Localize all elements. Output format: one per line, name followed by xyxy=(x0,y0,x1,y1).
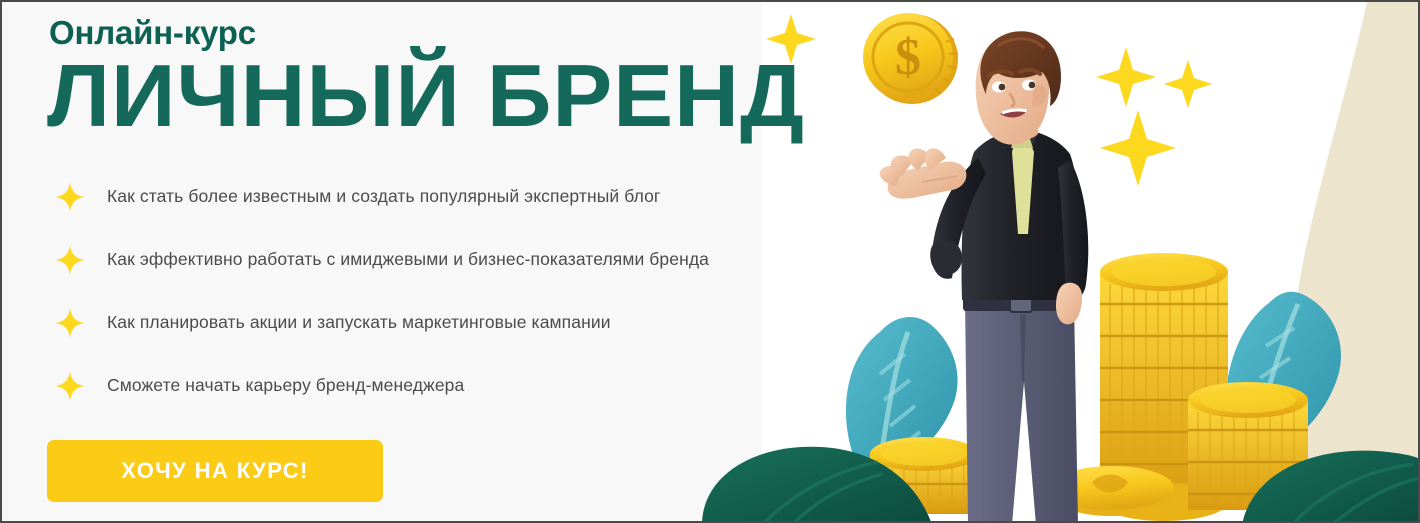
enroll-cta-button[interactable]: ХОЧУ НА КУРС! xyxy=(47,440,383,502)
svg-text:$: $ xyxy=(895,29,921,86)
promo-banner: $ Онлайн-курс ЛИЧНЫЙ БРЕНД Как стать бол… xyxy=(0,0,1420,523)
coin-stack-medium-right xyxy=(1188,382,1308,510)
list-item-label: Сможете начать карьеру бренд-менеджера xyxy=(107,375,464,396)
sparkle-top-right-2 xyxy=(1100,110,1176,186)
open-palm-hand xyxy=(880,148,967,198)
list-item: Как стать более известным и создать попу… xyxy=(55,165,835,228)
list-item-label: Как планировать акции и запускать маркет… xyxy=(107,312,611,333)
hand-right xyxy=(1056,283,1082,325)
list-item: Как эффективно работать с имиджевыми и б… xyxy=(55,228,835,291)
coin-stack-small-left xyxy=(870,437,978,514)
sparkle-icon xyxy=(55,182,85,212)
dark-green-leaf-right xyxy=(1242,451,1420,523)
hair xyxy=(980,31,1061,106)
sparkle-top-right-3 xyxy=(1164,60,1212,108)
cream-background-shape xyxy=(1294,2,1420,523)
teal-leaf-left xyxy=(846,317,958,480)
list-item-label: Как эффективно работать с имиджевыми и б… xyxy=(107,249,709,270)
businessman-character xyxy=(880,31,1089,523)
necktie xyxy=(1012,138,1034,234)
sparkle-icon xyxy=(55,371,85,401)
coin-stack-tall xyxy=(1100,253,1228,521)
list-item: Как планировать акции и запускать маркет… xyxy=(55,291,835,354)
sparkle-top-right-1 xyxy=(1096,47,1156,107)
gold-dollar-coin: $ xyxy=(863,13,958,104)
page-title: ЛИЧНЫЙ БРЕНД xyxy=(47,52,805,140)
coin-flat-front xyxy=(1050,466,1174,516)
benefits-list: Как стать более известным и создать попу… xyxy=(55,165,835,417)
teal-leaf-right xyxy=(1225,292,1341,464)
sparkle-icon xyxy=(55,308,85,338)
sparkle-icon xyxy=(55,245,85,275)
list-item-label: Как стать более известным и создать попу… xyxy=(107,186,660,207)
list-item: Сможете начать карьеру бренд-менеджера xyxy=(55,354,835,417)
